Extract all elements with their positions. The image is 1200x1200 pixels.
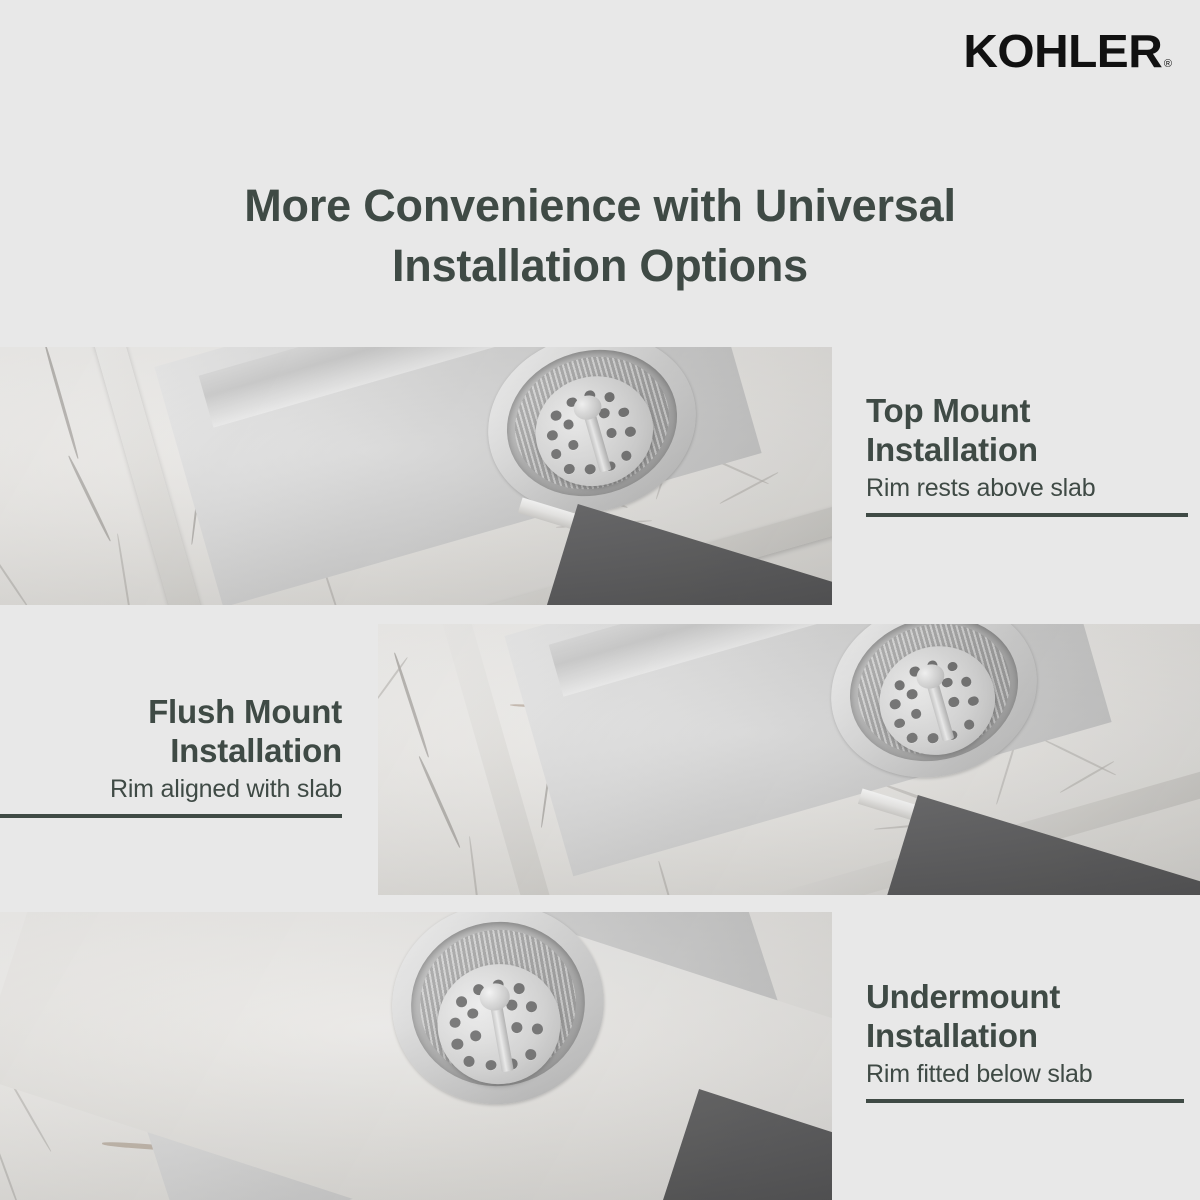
caption-subtitle-flush-mount: Rim aligned with slab (0, 773, 342, 806)
registered-trademark-icon: ® (1164, 59, 1172, 70)
caption-top-mount: Top Mount Installation Rim rests above s… (866, 392, 1186, 517)
caption-rule-flush-mount (0, 814, 342, 818)
photo-tint (0, 347, 832, 605)
photo-top-mount (0, 347, 832, 605)
photo-undermount (0, 912, 832, 1200)
sink-scene-flush-mount (378, 624, 1200, 895)
caption-flush-mount: Flush Mount Installation Rim aligned wit… (0, 693, 342, 818)
caption-subtitle-top-mount: Rim rests above slab (866, 472, 1186, 505)
page-title-line-1: More Convenience with Universal (244, 180, 956, 231)
caption-undermount: Undermount Installation Rim fitted below… (866, 978, 1184, 1103)
caption-title-undermount: Undermount Installation (866, 978, 1184, 1056)
photo-tint (378, 624, 1200, 895)
caption-title-line-2: Installation (866, 431, 1038, 468)
caption-title-line-1: Undermount (866, 978, 1060, 1015)
page-title-line-2: Installation Options (120, 236, 1080, 296)
photo-flush-mount (378, 624, 1200, 895)
caption-title-line-1: Top Mount (866, 392, 1030, 429)
sink-scene-undermount (0, 912, 832, 1200)
caption-subtitle-undermount: Rim fitted below slab (866, 1058, 1184, 1091)
kohler-logo: KOHLER ® (971, 28, 1172, 74)
caption-title-flush-mount: Flush Mount Installation (0, 693, 342, 771)
caption-title-line-2: Installation (170, 732, 342, 769)
sink-scene-top-mount (0, 347, 832, 605)
brand-wordmark: KOHLER (963, 28, 1162, 74)
caption-title-line-2: Installation (866, 1017, 1038, 1054)
caption-rule-top-mount (866, 513, 1188, 517)
caption-title-top-mount: Top Mount Installation (866, 392, 1186, 470)
infographic-stage: KOHLER ® More Convenience with Universal… (0, 0, 1200, 1200)
photo-tint (0, 912, 832, 1200)
caption-rule-undermount (866, 1099, 1184, 1103)
caption-title-line-1: Flush Mount (148, 693, 342, 730)
page-title: More Convenience with Universal Installa… (0, 176, 1200, 296)
